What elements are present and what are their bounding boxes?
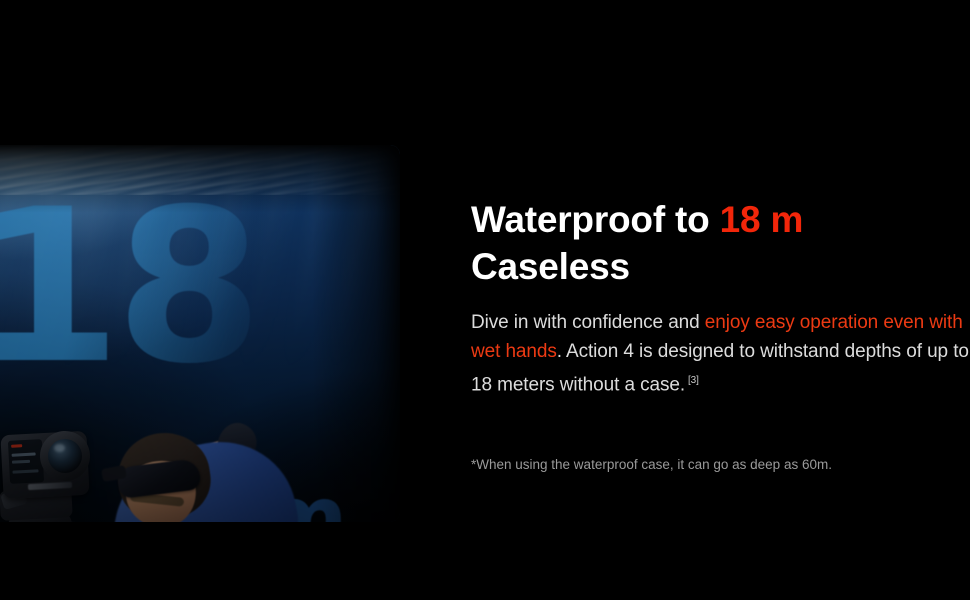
disclaimer-text: *When using the waterproof case, it can … (471, 399, 969, 475)
camera-lens-glint (54, 444, 65, 452)
underwater-scene: 18 m (0, 145, 400, 522)
camera-screen-line (12, 452, 36, 456)
hero-image: 18 m (0, 145, 400, 522)
camera-screen-line (12, 469, 38, 473)
waterproof-feature-banner: 18 m (0, 0, 970, 600)
headline-text-second-line: Caseless (471, 246, 630, 287)
footnote-reference-marker: [3] (685, 375, 699, 386)
headline-text-lead: Waterproof to (471, 199, 720, 240)
camera-lens (48, 439, 82, 473)
camera-front-screen (8, 439, 44, 484)
camera-screen-record-indicator (11, 444, 22, 448)
body-text-lead: Dive in with confidence and (471, 312, 705, 333)
body-paragraph: Dive in with confidence and enjoy easy o… (471, 290, 969, 399)
page-title: Waterproof to 18 m Caseless (471, 196, 969, 290)
headline-accent-depth: 18 m (720, 199, 804, 240)
camera-screen-line (12, 460, 30, 464)
copy-block: Waterproof to 18 m Caseless Dive in with… (471, 196, 969, 475)
